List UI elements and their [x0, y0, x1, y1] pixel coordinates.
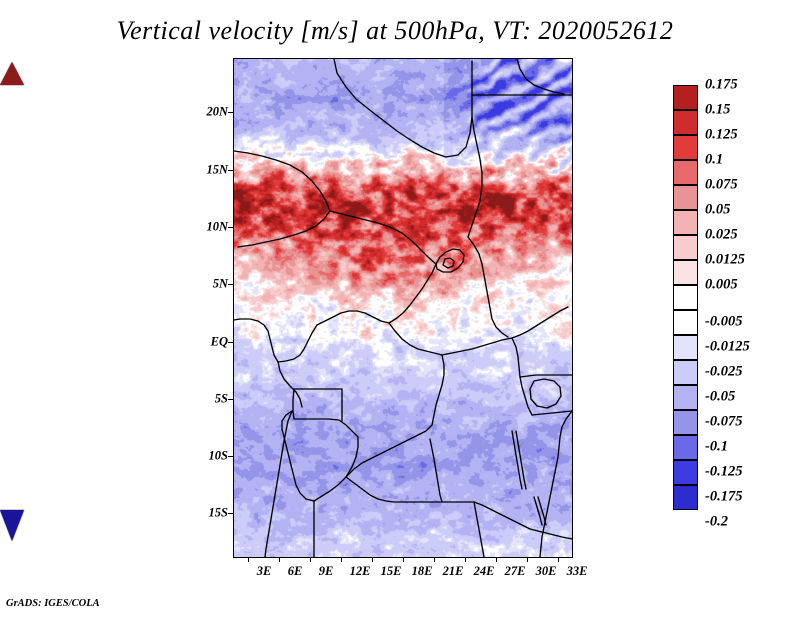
colorbar-band	[673, 310, 698, 335]
y-tick-5N	[228, 284, 233, 285]
x-axis-label-21E: 21E	[443, 564, 464, 579]
colorbar-arrow-bottom	[0, 510, 24, 541]
x-tick-3E	[248, 557, 249, 562]
y-tick-EQ	[228, 342, 233, 343]
y-tick-10N	[228, 227, 233, 228]
y-axis-label-5S: 5S	[190, 392, 228, 407]
colorbar-arrow-top	[0, 62, 24, 85]
x-tick-24E	[465, 557, 466, 562]
x-axis-label-24E: 24E	[474, 564, 495, 579]
colorbar	[673, 85, 698, 510]
colorbar-band	[673, 435, 698, 460]
x-tick-15E	[372, 557, 373, 562]
colorbar-label-2: 0.125	[705, 127, 738, 144]
y-tick-15S	[228, 513, 233, 514]
colorbar-band	[673, 385, 698, 410]
x-axis-label-15E: 15E	[381, 564, 402, 579]
x-tick-12E	[341, 557, 342, 562]
x-tick-33E	[558, 557, 559, 562]
y-tick-15N	[228, 170, 233, 171]
colorbar-band	[673, 185, 698, 210]
colorbar-band	[673, 260, 698, 285]
y-axis-label-EQ: EQ	[190, 335, 228, 350]
y-axis-label-5N: 5N	[190, 277, 228, 292]
figure-canvas: Vertical velocity [m/s] at 500hPa, VT: 2…	[0, 0, 800, 618]
x-tick-30E	[527, 557, 528, 562]
x-axis-label-6E: 6E	[288, 564, 303, 579]
y-tick-20N	[228, 112, 233, 113]
colorbar-band	[673, 460, 698, 485]
x-tick-18E	[403, 557, 404, 562]
x-axis-label-27E: 27E	[505, 564, 526, 579]
colorbar-band	[673, 160, 698, 185]
x-axis-label-18E: 18E	[412, 564, 433, 579]
x-axis-label-30E: 30E	[536, 564, 557, 579]
x-axis-label-12E: 12E	[350, 564, 371, 579]
x-axis-label-9E: 9E	[319, 564, 334, 579]
colorbar-label-16: -0.175	[705, 489, 742, 506]
colorbar-band	[673, 360, 698, 385]
colorbar-band	[673, 210, 698, 235]
y-axis-label-15N: 15N	[190, 163, 228, 178]
colorbar-label-7: 0.0125	[705, 252, 745, 269]
colorbar-band	[673, 135, 698, 160]
colorbar-band	[673, 85, 698, 110]
colorbar-label-17: -0.2	[705, 514, 728, 531]
colorbar-label-12: -0.05	[705, 389, 735, 406]
colorbar-band	[673, 485, 698, 510]
colorbar-label-5: 0.05	[705, 202, 730, 219]
colorbar-band	[673, 410, 698, 435]
colorbar-label-3: 0.1	[705, 152, 723, 169]
colorbar-label-8: 0.005	[705, 277, 738, 294]
colorbar-band	[673, 235, 698, 260]
y-tick-10S	[228, 456, 233, 457]
colorbar-label-11: -0.025	[705, 364, 742, 381]
map-plot-area	[233, 58, 573, 558]
x-axis-label-33E: 33E	[567, 564, 588, 579]
y-axis-label-10S: 10S	[190, 449, 228, 464]
footer-credit: GrADS: IGES/COLA	[6, 598, 100, 609]
colorbar-label-15: -0.125	[705, 464, 742, 481]
colorbar-label-10: -0.0125	[705, 339, 750, 356]
y-axis-label-10N: 10N	[190, 220, 228, 235]
vertical-velocity-raster	[234, 59, 572, 557]
x-tick-6E	[279, 557, 280, 562]
x-tick-9E	[310, 557, 311, 562]
chart-title: Vertical velocity [m/s] at 500hPa, VT: 2…	[0, 16, 790, 46]
colorbar-label-4: 0.075	[705, 177, 738, 194]
x-tick-27E	[496, 557, 497, 562]
colorbar-label-1: 0.15	[705, 102, 730, 119]
x-tick-21E	[434, 557, 435, 562]
colorbar-band	[673, 335, 698, 360]
colorbar-label-0: 0.175	[705, 77, 738, 94]
colorbar-band	[673, 285, 698, 310]
colorbar-band	[673, 110, 698, 135]
y-axis-label-20N: 20N	[190, 105, 228, 120]
x-axis-label-3E: 3E	[257, 564, 272, 579]
colorbar-label-6: 0.025	[705, 227, 738, 244]
colorbar-label-9: -0.005	[705, 314, 742, 331]
y-axis-label-15S: 15S	[190, 506, 228, 521]
colorbar-label-13: -0.075	[705, 414, 742, 431]
colorbar-label-14: -0.1	[705, 439, 728, 456]
y-tick-5S	[228, 399, 233, 400]
